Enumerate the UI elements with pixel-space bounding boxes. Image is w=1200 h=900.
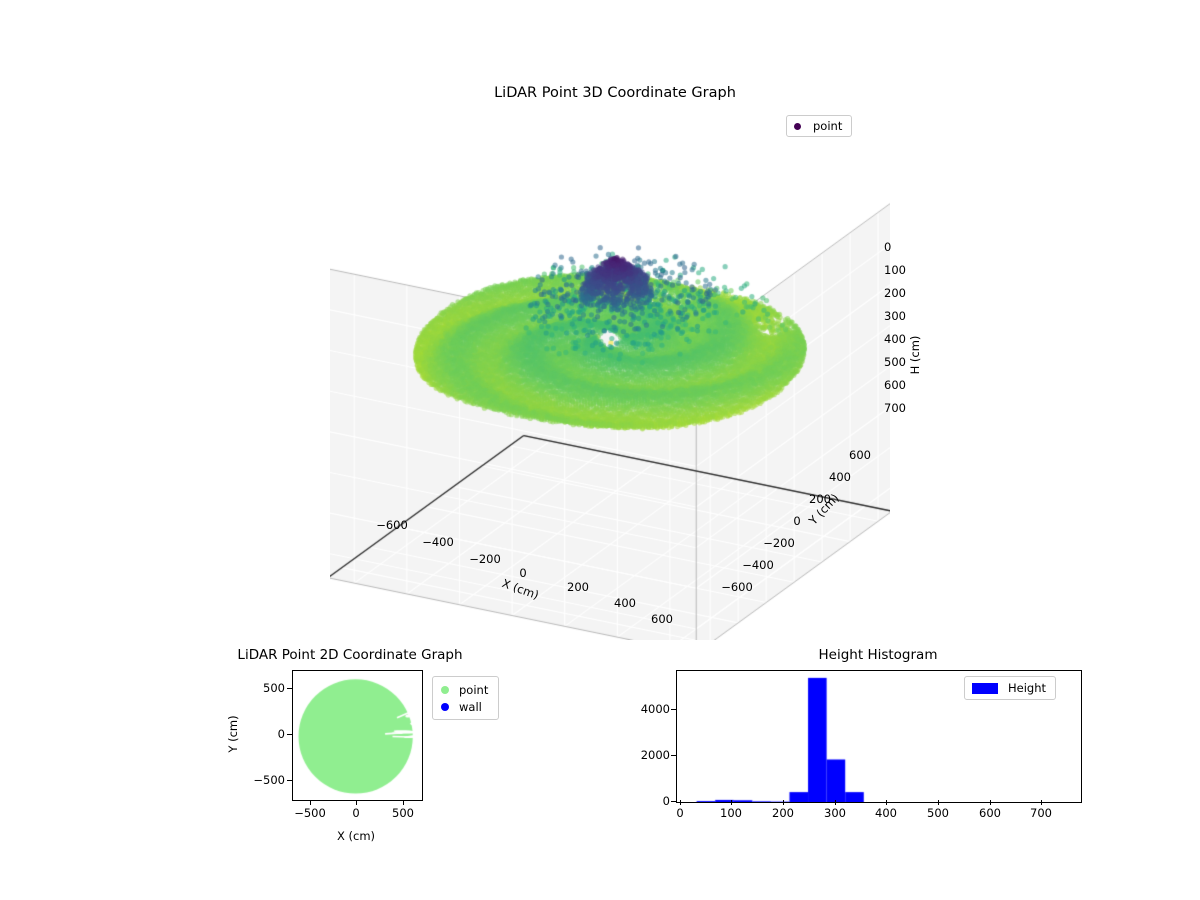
xh-tick-300: 300 bbox=[824, 806, 846, 820]
x3d-tick--400: −400 bbox=[422, 535, 454, 549]
y3d-tick--600: −600 bbox=[721, 580, 753, 594]
figure-canvas: LiDAR Point 3D Coordinate Graph point 0 … bbox=[0, 0, 1200, 900]
xh-tick-700: 700 bbox=[1030, 806, 1052, 820]
xh-tickmark bbox=[1041, 800, 1042, 805]
h-tick-600: 600 bbox=[884, 378, 906, 392]
yh-tick-4000: 4000 bbox=[641, 702, 670, 716]
y2d-tick--500: −500 bbox=[253, 773, 285, 787]
plot2d-scatter bbox=[293, 671, 422, 800]
xh-tickmark bbox=[835, 800, 836, 805]
yh-tickmark bbox=[671, 801, 676, 802]
xh-tick-500: 500 bbox=[927, 806, 949, 820]
legend-point-marker-icon bbox=[794, 123, 801, 130]
yh-tick-2000: 2000 bbox=[641, 748, 670, 762]
x3d-tick-0: 0 bbox=[519, 566, 526, 580]
xh-tick-600: 600 bbox=[979, 806, 1001, 820]
xh-tickmark bbox=[938, 800, 939, 805]
plot2d-axes[interactable] bbox=[292, 670, 423, 801]
h-axis-label: H (cm) bbox=[908, 336, 922, 375]
xh-tick-0: 0 bbox=[676, 806, 683, 820]
y3d-tick--200: −200 bbox=[763, 536, 795, 550]
y3d-tick--400: −400 bbox=[742, 558, 774, 572]
legend-point-marker-icon bbox=[441, 686, 449, 694]
xh-tickmark bbox=[783, 800, 784, 805]
xh-tick-100: 100 bbox=[720, 806, 742, 820]
plot3d-legend[interactable]: point bbox=[786, 115, 852, 137]
h-tick-700: 700 bbox=[884, 401, 906, 415]
h-tick-400: 400 bbox=[884, 332, 906, 346]
plot3d-pointcloud bbox=[330, 140, 890, 640]
legend-height-label: Height bbox=[1008, 681, 1046, 695]
plot3d-title: LiDAR Point 3D Coordinate Graph bbox=[494, 85, 736, 101]
y3d-tick-600: 600 bbox=[849, 448, 871, 462]
yh-tickmark bbox=[671, 755, 676, 756]
y2d-axis-label: Y (cm) bbox=[226, 715, 240, 752]
y2d-tick-0: 0 bbox=[278, 727, 285, 741]
y2d-tickmark bbox=[287, 734, 292, 735]
legend-wall-label: wall bbox=[459, 700, 482, 714]
x2d-tickmark bbox=[310, 800, 311, 805]
x3d-tick-600: 600 bbox=[651, 612, 673, 626]
y3d-tick-400: 400 bbox=[829, 470, 851, 484]
yh-tick-0: 0 bbox=[663, 794, 670, 808]
x3d-tick-400: 400 bbox=[614, 596, 636, 610]
xh-tickmark bbox=[886, 800, 887, 805]
h-tick-0: 0 bbox=[884, 240, 891, 254]
y3d-tick-0: 0 bbox=[793, 514, 800, 528]
y2d-tickmark bbox=[287, 688, 292, 689]
xh-tickmark bbox=[990, 800, 991, 805]
plot2d-title: LiDAR Point 2D Coordinate Graph bbox=[237, 647, 462, 663]
x2d-tick--500: −500 bbox=[294, 806, 326, 820]
plot3d-axes[interactable] bbox=[330, 140, 890, 640]
x2d-tickmark bbox=[356, 800, 357, 805]
xh-tickmark bbox=[680, 800, 681, 805]
y2d-tickmark bbox=[287, 780, 292, 781]
xh-tickmark bbox=[731, 800, 732, 805]
xh-tick-200: 200 bbox=[772, 806, 794, 820]
y2d-tick-500: 500 bbox=[263, 681, 285, 695]
legend-wall-marker-icon bbox=[441, 703, 449, 711]
legend-height-swatch-icon bbox=[972, 683, 998, 694]
xh-tick-400: 400 bbox=[875, 806, 897, 820]
legend-point-label: point bbox=[459, 683, 488, 697]
h-tick-300: 300 bbox=[884, 309, 906, 323]
x3d-tick--200: −200 bbox=[469, 552, 501, 566]
x3d-tick-200: 200 bbox=[567, 580, 589, 594]
legend-point-label: point bbox=[813, 119, 842, 133]
x2d-tick-0: 0 bbox=[352, 806, 359, 820]
h-tick-200: 200 bbox=[884, 286, 906, 300]
plot2d-legend[interactable]: point wall bbox=[432, 676, 499, 720]
x2d-tickmark bbox=[403, 800, 404, 805]
histogram-title: Height Histogram bbox=[819, 647, 938, 663]
yh-tickmark bbox=[671, 709, 676, 710]
x2d-tick-500: 500 bbox=[392, 806, 414, 820]
x3d-tick--600: −600 bbox=[376, 518, 408, 532]
x2d-axis-label: X (cm) bbox=[337, 829, 375, 843]
h-tick-100: 100 bbox=[884, 263, 906, 277]
legend-item-wall[interactable]: wall bbox=[441, 698, 488, 715]
h-tick-500: 500 bbox=[884, 355, 906, 369]
legend-item-point[interactable]: point bbox=[441, 681, 488, 698]
histogram-legend[interactable]: Height bbox=[964, 676, 1056, 700]
